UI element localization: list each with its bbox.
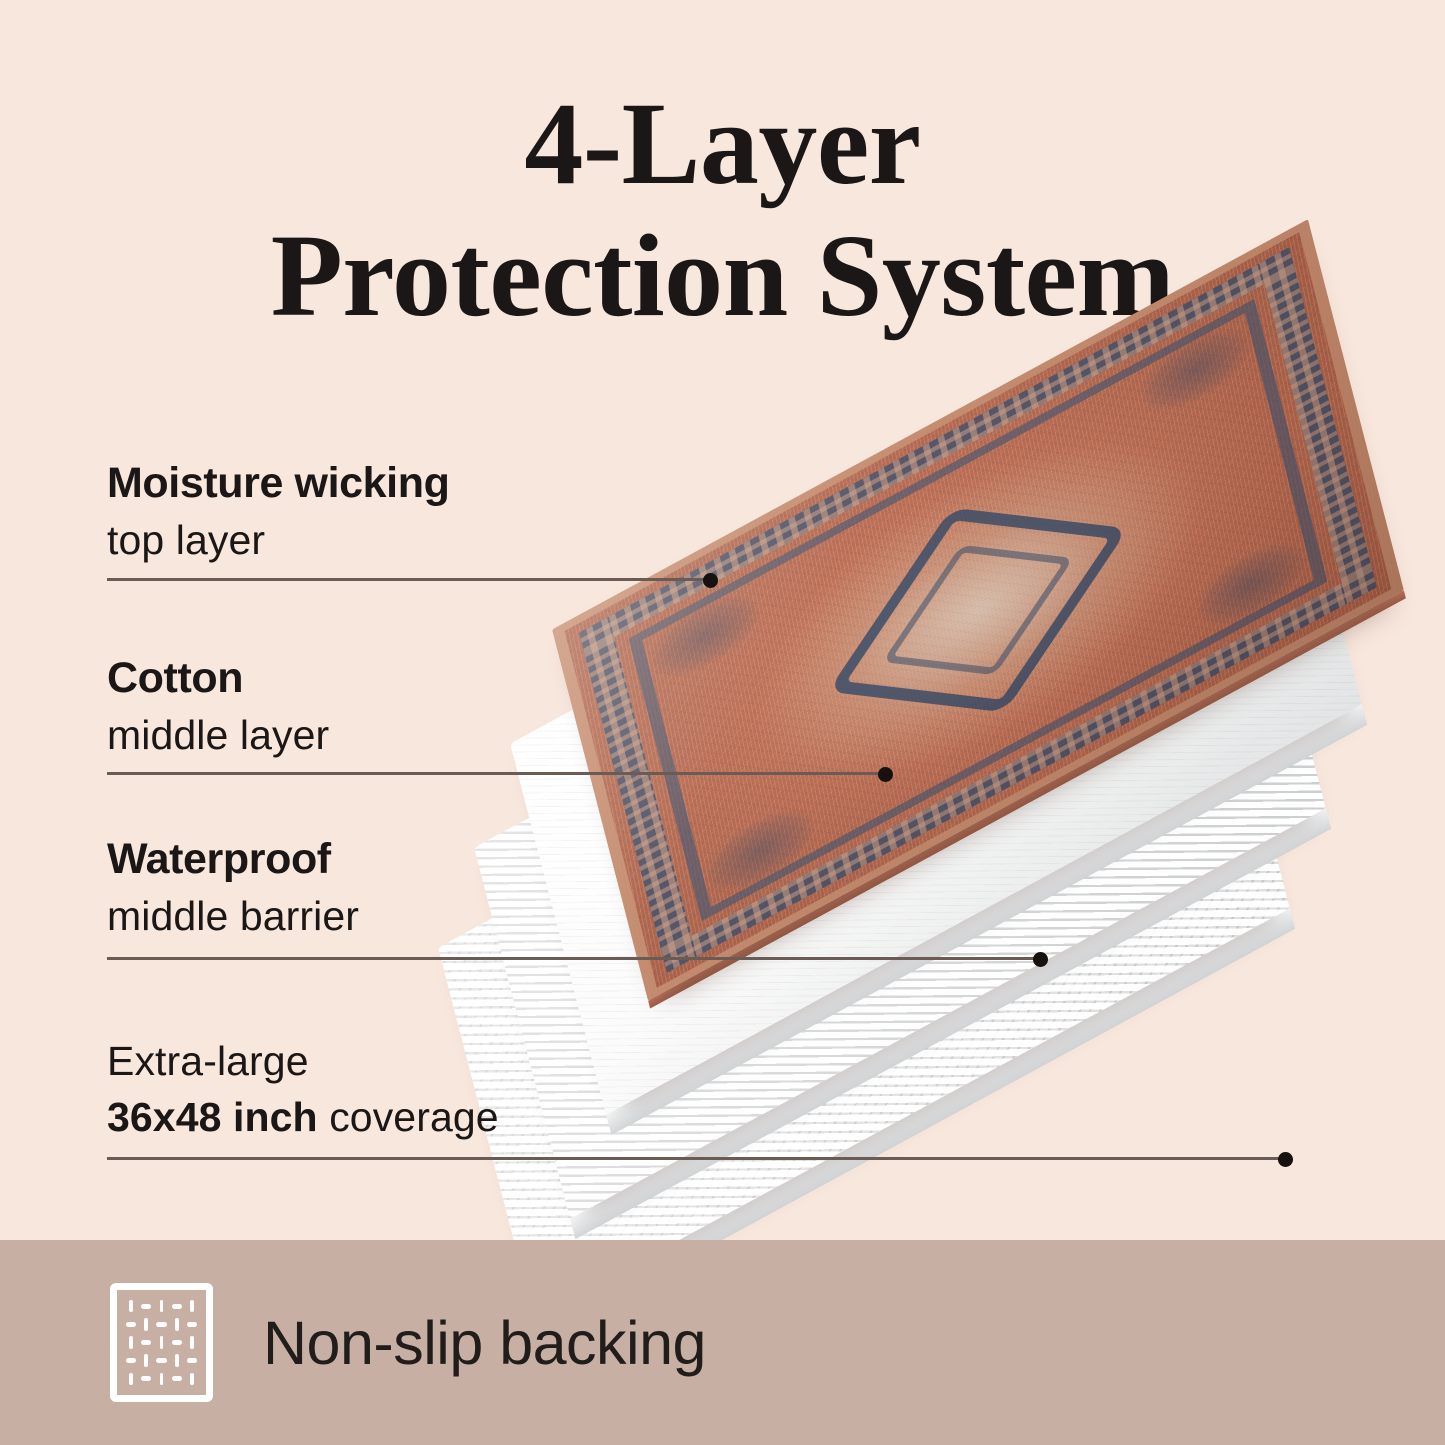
title-line-2: Protection System — [0, 210, 1445, 342]
label-1-subtitle: top layer — [107, 516, 449, 565]
leader-line-4 — [107, 1157, 1286, 1160]
leader-line-1 — [107, 578, 711, 581]
layer-3-edge — [570, 808, 1331, 1239]
footer-bar: Non-slip backing — [0, 1240, 1445, 1445]
leader-dot-2 — [878, 767, 893, 782]
layer-1-edge — [648, 590, 1406, 1008]
leader-line-3 — [107, 957, 1041, 960]
layer-3-face — [474, 437, 1326, 1219]
product-infographic: 4-Layer Protection System — [0, 0, 1445, 1445]
rug-corner-motif — [646, 581, 764, 691]
label-4-size-value: 36x48 inch — [107, 1094, 318, 1140]
rug-inner-border — [629, 299, 1328, 921]
page-title: 4-Layer Protection System — [0, 78, 1445, 342]
layer-2-cotton-batting — [510, 333, 1362, 1115]
label-coverage-size: Extra-large 36x48 inch coverage — [107, 1030, 499, 1142]
label-1-heading: Moisture wicking — [107, 458, 449, 509]
label-moisture-wicking: Moisture wicking top layer — [107, 458, 449, 565]
rug-corner-motif — [702, 795, 820, 905]
footer-label: Non-slip backing — [263, 1308, 706, 1378]
leader-dot-1 — [703, 573, 718, 588]
layer-2-edge — [606, 704, 1367, 1135]
rug-corner-motif — [1192, 529, 1310, 639]
label-3-heading: Waterproof — [107, 834, 359, 885]
non-slip-grid-icon — [110, 1283, 213, 1402]
leader-line-2 — [107, 772, 886, 775]
leader-dot-3 — [1033, 952, 1048, 967]
label-cotton: Cotton middle layer — [107, 653, 329, 760]
label-2-heading: Cotton — [107, 653, 329, 704]
layer-2-face — [510, 333, 1362, 1115]
leader-dot-4 — [1278, 1152, 1293, 1167]
title-line-1: 4-Layer — [0, 78, 1445, 210]
label-3-subtitle: middle barrier — [107, 892, 359, 941]
label-4-size-suffix: coverage — [329, 1094, 498, 1140]
label-waterproof: Waterproof middle barrier — [107, 834, 359, 941]
label-4-size-prefix: Extra-large — [107, 1037, 499, 1086]
layer-3-waterproof-barrier — [474, 437, 1326, 1219]
layer-4-face — [438, 537, 1290, 1240]
label-2-subtitle: middle layer — [107, 711, 329, 760]
layer-4-nonslip-base — [438, 537, 1290, 1240]
rug-center-medallion — [794, 442, 1162, 779]
label-4-size-line: 36x48 inch coverage — [107, 1093, 499, 1142]
rug-outer-border — [579, 247, 1377, 973]
